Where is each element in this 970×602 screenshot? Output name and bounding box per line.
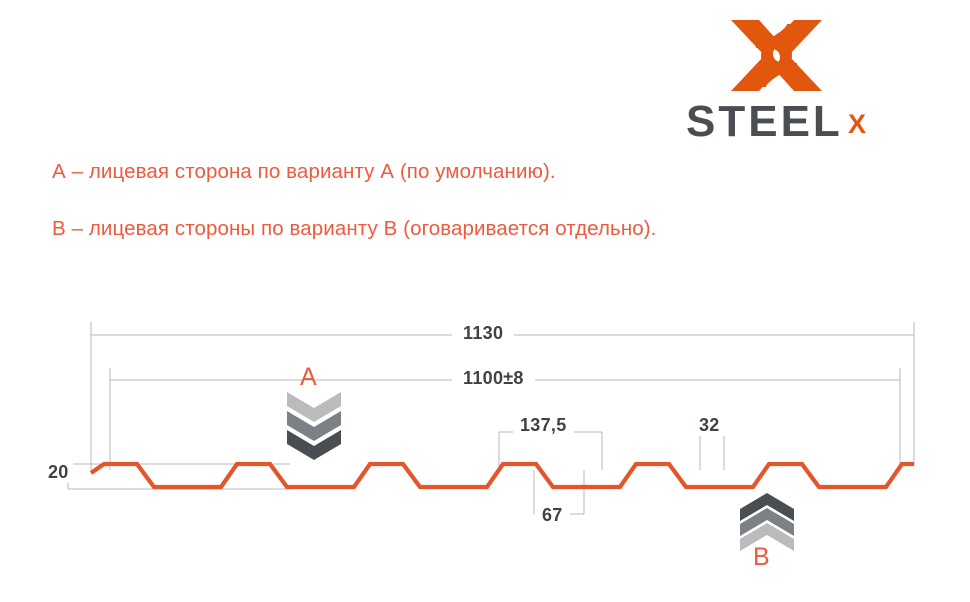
dimension-label-valley-flat: 67 [535, 505, 570, 526]
marker-b-label: В [753, 543, 770, 572]
marker-a-chevron-icon [283, 392, 345, 460]
dimension-label-rib-pitch: 137,5 [513, 415, 574, 436]
profile-technical-drawing: 1130 1100±8 137,5 32 67 20 А В [0, 0, 970, 597]
trapezoidal-profile-path [91, 464, 914, 487]
dimension-label-useful-width: 1100±8 [452, 368, 535, 389]
dimension-label-rib-crest: 32 [694, 415, 725, 436]
dimension-label-rib-height: 20 [44, 462, 73, 483]
marker-a-label: А [300, 363, 317, 392]
dimension-label-overall-width: 1130 [452, 323, 514, 344]
